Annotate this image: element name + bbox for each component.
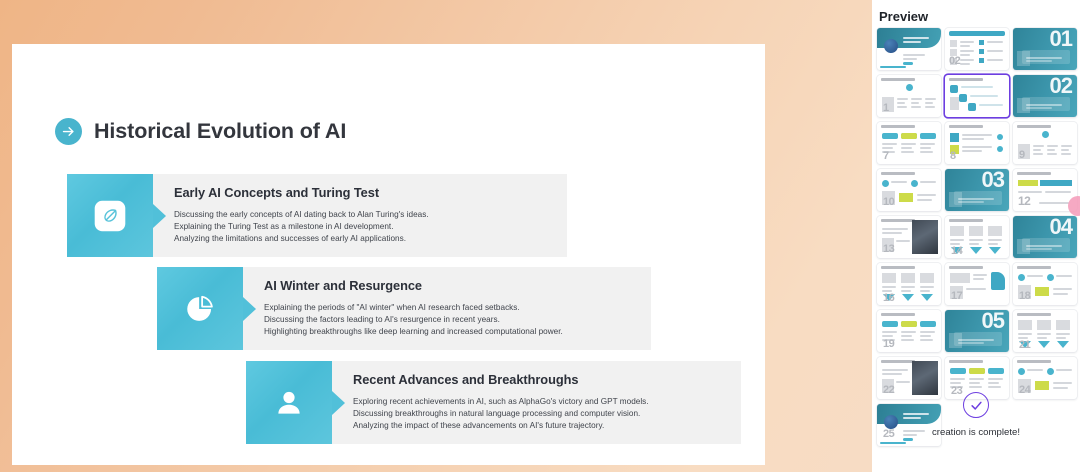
card-body: Recent Advances and Breakthroughs Explor… — [332, 361, 741, 444]
content-card[interactable]: Early AI Concepts and Turing Test Discus… — [67, 174, 567, 257]
card-heading: Early AI Concepts and Turing Test — [174, 185, 567, 200]
card-heading: AI Winter and Resurgence — [264, 278, 651, 293]
pie-chart-icon — [180, 289, 220, 329]
card-notch — [332, 391, 345, 415]
content-card[interactable]: AI Winter and Resurgence Explaining the … — [157, 267, 651, 350]
card-bullet: Exploring recent achievements in AI, suc… — [353, 396, 741, 408]
card-body: AI Winter and Resurgence Explaining the … — [243, 267, 651, 350]
thumbnail-slide[interactable]: 19 — [877, 310, 941, 352]
preview-panel: Preview 02011027891003121314041617181905… — [872, 0, 1080, 472]
status-text: creation is complete! — [932, 427, 1020, 438]
thumbnail-slide[interactable]: 05 — [945, 310, 1009, 352]
thumbnail-slide[interactable]: 16 — [877, 263, 941, 305]
slide-title-row: Historical Evolution of AI — [55, 118, 346, 145]
card-icon-tile — [67, 174, 153, 257]
card-icon-tile — [157, 267, 243, 350]
thumbnail-slide[interactable]: 18 — [1013, 263, 1077, 305]
slide-canvas-area: Historical Evolution of AI Early AI Con — [0, 0, 872, 472]
card-bullet: Discussing breakthroughs in natural lang… — [353, 408, 741, 420]
thumbnail-slide[interactable]: 01 — [1013, 28, 1077, 70]
card-notch — [153, 204, 166, 228]
arrow-right-circle-icon — [55, 118, 82, 145]
card-bullet: Highlighting breakthroughs like deep lea… — [264, 326, 651, 338]
card-body: Early AI Concepts and Turing Test Discus… — [153, 174, 567, 257]
status-block: creation is complete! — [872, 392, 1080, 438]
slide-surface[interactable]: Historical Evolution of AI Early AI Con — [12, 44, 765, 465]
thumbnail-slide[interactable]: 02 — [1013, 75, 1077, 117]
thumbnail-slide[interactable]: 03 — [945, 169, 1009, 211]
thumbnail-slide[interactable]: 02 — [945, 28, 1009, 70]
thumbnail-slide[interactable]: 10 — [877, 169, 941, 211]
card-bullet: Analyzing the limitations and successes … — [174, 233, 567, 245]
leaf-note-icon — [90, 196, 130, 236]
thumbnail-slide[interactable]: 9 — [1013, 122, 1077, 164]
preview-heading: Preview — [879, 9, 928, 24]
thumbnail-slide[interactable]: 04 — [1013, 216, 1077, 258]
thumbnail-slide[interactable]: 13 — [877, 216, 941, 258]
thumbnail-grid[interactable]: 0201102789100312131404161718190521222324… — [877, 28, 1077, 446]
card-icon-tile — [246, 361, 332, 444]
card-bullet: Discussing the factors leading to AI's r… — [264, 314, 651, 326]
card-bullet: Analyzing the impact of these advancemen… — [353, 420, 741, 432]
card-notch — [243, 297, 256, 321]
card-heading: Recent Advances and Breakthroughs — [353, 372, 741, 387]
thumbnail-slide[interactable]: 1 — [877, 75, 941, 117]
check-circle-icon — [963, 392, 989, 418]
card-bullet: Explaining the Turing Test as a mileston… — [174, 221, 567, 233]
card-bullet: Discussing the early concepts of AI dati… — [174, 209, 567, 221]
thumbnail-slide[interactable]: 14 — [945, 216, 1009, 258]
thumbnail-slide[interactable]: 17 — [945, 263, 1009, 305]
thumbnail-slide[interactable] — [945, 75, 1009, 117]
thumbnail-slide[interactable]: 7 — [877, 122, 941, 164]
thumbnail-slide[interactable] — [877, 28, 941, 70]
person-icon — [269, 383, 309, 423]
page-title: Historical Evolution of AI — [94, 119, 346, 144]
app-root: Historical Evolution of AI Early AI Con — [0, 0, 1080, 472]
content-card[interactable]: Recent Advances and Breakthroughs Explor… — [246, 361, 741, 444]
thumbnail-slide[interactable]: 8 — [945, 122, 1009, 164]
card-bullet: Explaining the periods of "AI winter" wh… — [264, 302, 651, 314]
thumbnail-slide[interactable]: 21 — [1013, 310, 1077, 352]
